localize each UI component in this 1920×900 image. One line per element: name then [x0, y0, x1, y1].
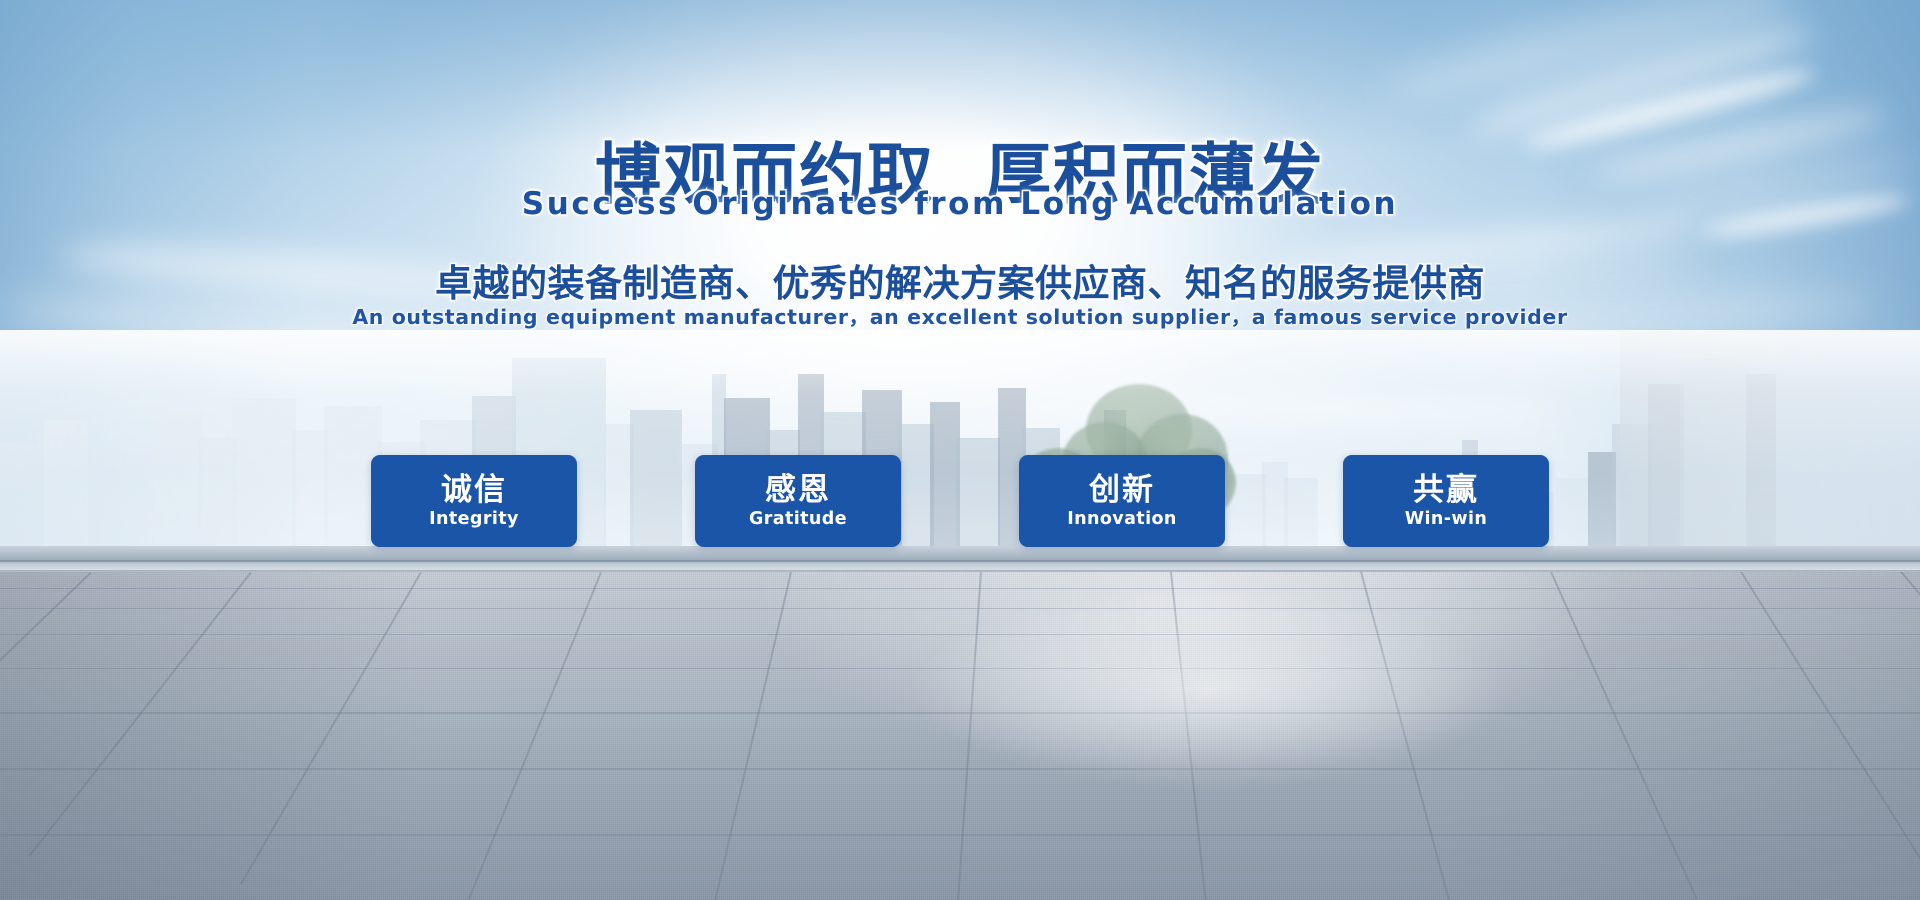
value-card-innovation[interactable]: 创新 Innovation	[1019, 455, 1225, 547]
value-card-label-en: Integrity	[429, 510, 519, 529]
value-card-winwin[interactable]: 共赢 Win-win	[1343, 455, 1549, 547]
hero-banner: 博观而约取 厚积而薄发 Success Originates from Long…	[0, 0, 1920, 900]
subtitle-chinese: 卓越的装备制造商、优秀的解决方案供应商、知名的服务提供商	[0, 253, 1920, 307]
value-card-label-cn: 感恩	[765, 473, 831, 507]
banner-content: 博观而约取 厚积而薄发 Success Originates from Long…	[0, 0, 1920, 900]
value-card-integrity[interactable]: 诚信 Integrity	[371, 455, 577, 547]
value-card-label-cn: 共赢	[1413, 473, 1479, 507]
headline-english: Success Originates from Long Accumulatio…	[0, 186, 1920, 222]
value-card-label-en: Win-win	[1405, 510, 1487, 529]
value-card-label-cn: 诚信	[441, 473, 507, 507]
subtitle-english: An outstanding equipment manufacturer，an…	[0, 300, 1920, 330]
value-card-gratitude[interactable]: 感恩 Gratitude	[695, 455, 901, 547]
core-values-list: 诚信 Integrity 感恩 Gratitude 创新 Innovation …	[0, 455, 1920, 550]
value-card-label-en: Innovation	[1067, 510, 1177, 529]
value-card-label-cn: 创新	[1089, 473, 1155, 507]
value-card-label-en: Gratitude	[749, 510, 847, 529]
